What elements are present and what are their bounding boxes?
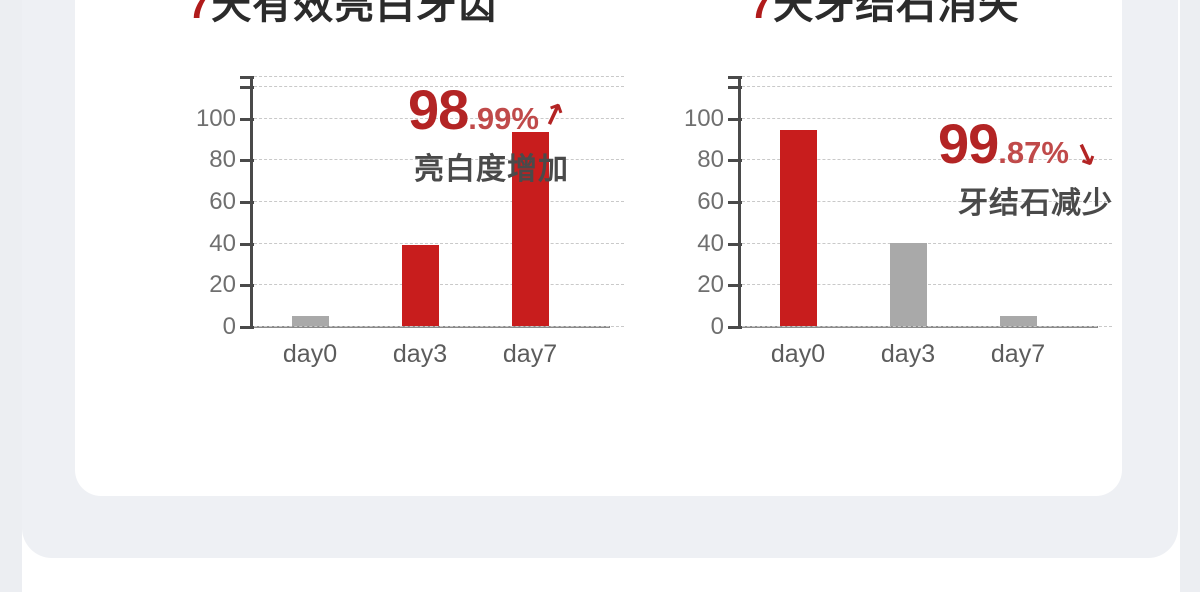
callout-value-small-whitening: .99% [468,101,539,136]
callout-caption-whitening: 亮白度增加 [414,144,569,188]
x-tick-label-day7: day7 [475,340,585,369]
x-tick-label-day3: day3 [853,340,963,369]
page-title-whitening: 7天有效亮白牙齿 [188,0,688,30]
y-tick-label: 0 [176,313,236,341]
callout-value-big-whitening: 98 [408,78,468,141]
bar-day0 [780,130,817,326]
y-tick-mark [240,326,254,329]
page-title-tartar: 7天牙结石消失 [750,0,1200,30]
title-number-whitening: 7 [188,0,211,27]
arrow-down-icon: ↘ [1068,137,1102,174]
callout-caption-tartar: 牙结石减少 [958,178,1113,222]
callout-percent-whitening: 98.99%↗ [408,82,569,138]
title-number-tartar: 7 [750,0,773,27]
y-tick-label: 0 [664,313,724,341]
y-tick-label: 20 [664,271,724,299]
page-root: 7天有效亮白牙齿 020406080100 day0day3day7 98.99… [0,0,1200,592]
callout-tartar: 99.87%↘ 牙结石减少 [938,116,1113,222]
y-tick-label: 60 [176,188,236,216]
x-tick-label-day7: day7 [963,340,1073,369]
arrow-up-icon: ↗ [537,98,571,135]
y-tick-label: 40 [176,230,236,258]
charts-card: 7天有效亮白牙齿 020406080100 day0day3day7 98.99… [75,0,1122,496]
y-tick-label: 100 [664,105,724,133]
y-tick-label: 80 [664,146,724,174]
callout-value-small-tartar: .87% [998,135,1069,170]
callout-value-big-tartar: 99 [938,112,998,175]
plot-area-whitening: 020406080100 day0day3day7 98.99%↗ 亮白度增加 [250,68,630,368]
bar-day0 [292,316,329,326]
chart-panel-tartar: 7天牙结石消失 020406080100 day0day3day7 99.87%… [660,0,1160,440]
callout-percent-tartar: 99.87%↘ [938,116,1113,172]
callout-whitening: 98.99%↗ 亮白度增加 [408,82,569,188]
x-tick-label-day0: day0 [255,340,365,369]
y-tick-label: 60 [664,188,724,216]
x-tick-label-day0: day0 [743,340,853,369]
page-edge-right [1180,0,1200,592]
y-tick-label: 100 [176,105,236,133]
x-tick-label-day3: day3 [365,340,475,369]
chart-panel-whitening: 7天有效亮白牙齿 020406080100 day0day3day7 98.99… [170,0,670,440]
gridline [742,326,1112,327]
bar-day3 [402,245,439,326]
bar-day3 [890,243,927,326]
y-tick-mark [728,326,742,329]
page-edge-left [0,0,22,592]
y-tick-label: 40 [664,230,724,258]
y-tick-label: 20 [176,271,236,299]
bar-day7 [1000,316,1037,326]
y-tick-label: 80 [176,146,236,174]
gridline [254,326,624,327]
title-text-tartar: 天牙结石消失 [773,0,1019,27]
plot-area-tartar: 020406080100 day0day3day7 99.87%↘ 牙结石减少 [738,68,1118,368]
title-text-whitening: 天有效亮白牙齿 [211,0,498,27]
